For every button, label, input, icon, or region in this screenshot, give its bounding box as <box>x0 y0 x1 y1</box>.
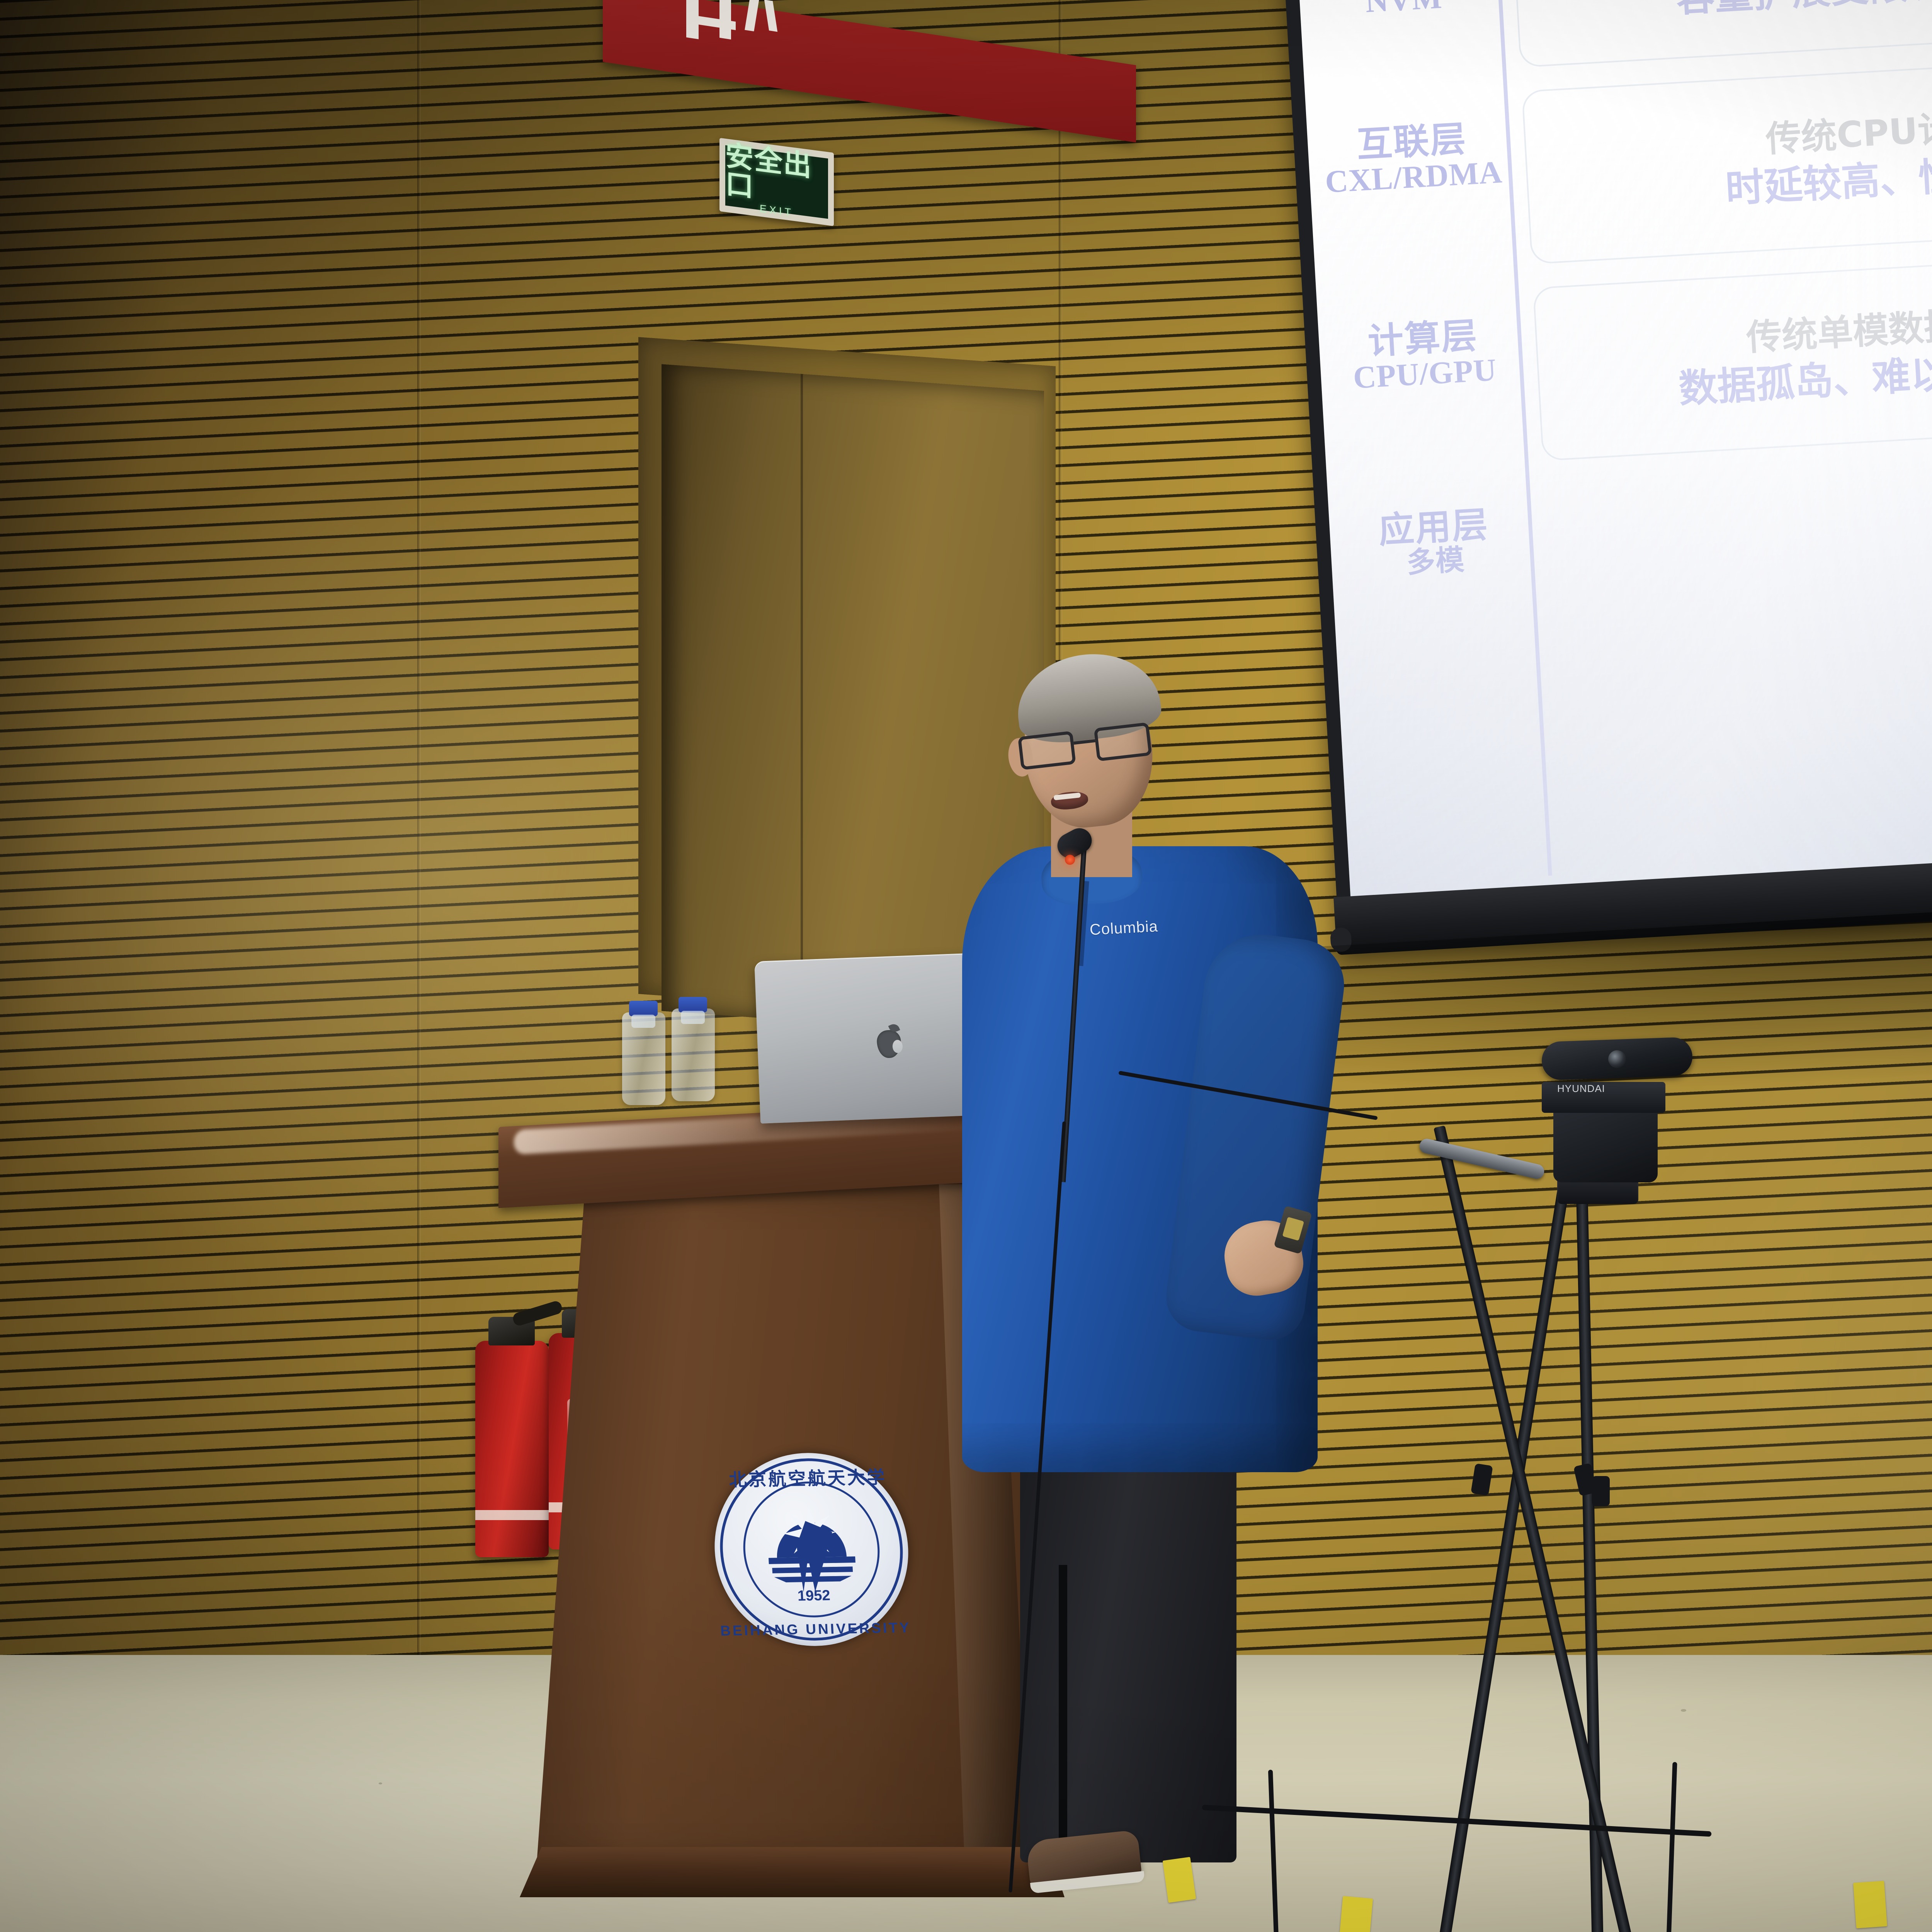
card-subtitle: 容量扩展受限、速度慢 <box>1675 0 1932 20</box>
tripod-head <box>1553 1101 1658 1182</box>
tripod-leg-lock[interactable] <box>1471 1463 1493 1496</box>
logo-chinese-name: 北京航空航天大学 <box>710 1463 905 1492</box>
trouser-seam <box>1059 1565 1067 1859</box>
camera-brand-label: HYUNDAI <box>1557 1083 1605 1095</box>
layer-label-en: NVM <box>1312 0 1495 20</box>
card-title: 传统CPU计算 <box>1765 107 1932 160</box>
tripod-pan-handle[interactable] <box>1418 1137 1546 1180</box>
emergency-exit-sign: 安全出口 EXIT <box>719 138 834 226</box>
wall-panel-join <box>417 0 421 1932</box>
cable-tape <box>1339 1896 1373 1932</box>
card-subtitle: 时延较高、性能差 <box>1725 150 1932 211</box>
slide-left-cards: 传统分布式存储 故障恢复慢 传统分布式互联 容量扩展受限、速度慢 传统CPU计算… <box>1502 0 1932 886</box>
card-title: 传统单模数据处理 <box>1745 302 1932 358</box>
cable-tape <box>1853 1881 1887 1928</box>
speaker-trousers <box>1020 1453 1236 1862</box>
shirt-brand-label: Columbia <box>1089 918 1158 939</box>
tripod-leg-lock[interactable] <box>1573 1463 1597 1496</box>
logo-founding-year: 1952 <box>717 1586 911 1606</box>
lecture-hall-scene: 安全出口 EXIT 存储层 NVM 互联层 CXL/RDMA <box>0 0 1932 1932</box>
slide-card: 传统单模数据处理 数据孤岛、难以融合处理 <box>1532 248 1932 461</box>
logo-english-name: BEIHANG UNIVERSITY <box>719 1619 913 1639</box>
screen-surface: 存储层 NVM 互联层 CXL/RDMA 计算层 CPU/GPU 应用层 多模 <box>1290 0 1932 898</box>
projection-screen: 存储层 NVM 互联层 CXL/RDMA 计算层 CPU/GPU 应用层 多模 <box>1275 0 1932 949</box>
webcam <box>1541 1037 1693 1081</box>
microphone-status-led <box>1065 855 1075 865</box>
camera-lens-icon <box>1608 1050 1626 1068</box>
water-bottle <box>672 1009 715 1101</box>
logo-emblem-icon <box>759 1498 864 1597</box>
cable-tape <box>1163 1857 1196 1903</box>
speaker: Columbia <box>954 665 1341 1932</box>
exit-sign-chinese: 安全出口 <box>725 141 828 211</box>
presentation-slide: 存储层 NVM 互联层 CXL/RDMA 计算层 CPU/GPU 应用层 多模 <box>1290 0 1932 898</box>
apple-logo-icon <box>876 1030 901 1058</box>
slide-card: 传统分布式互联 容量扩展受限、速度慢 <box>1511 0 1932 68</box>
slide-card: 传统CPU计算 时延较高、性能差 <box>1522 51 1932 264</box>
water-bottle <box>622 1012 665 1105</box>
camera-tripod: HYUNDAI <box>1376 1055 1832 1932</box>
